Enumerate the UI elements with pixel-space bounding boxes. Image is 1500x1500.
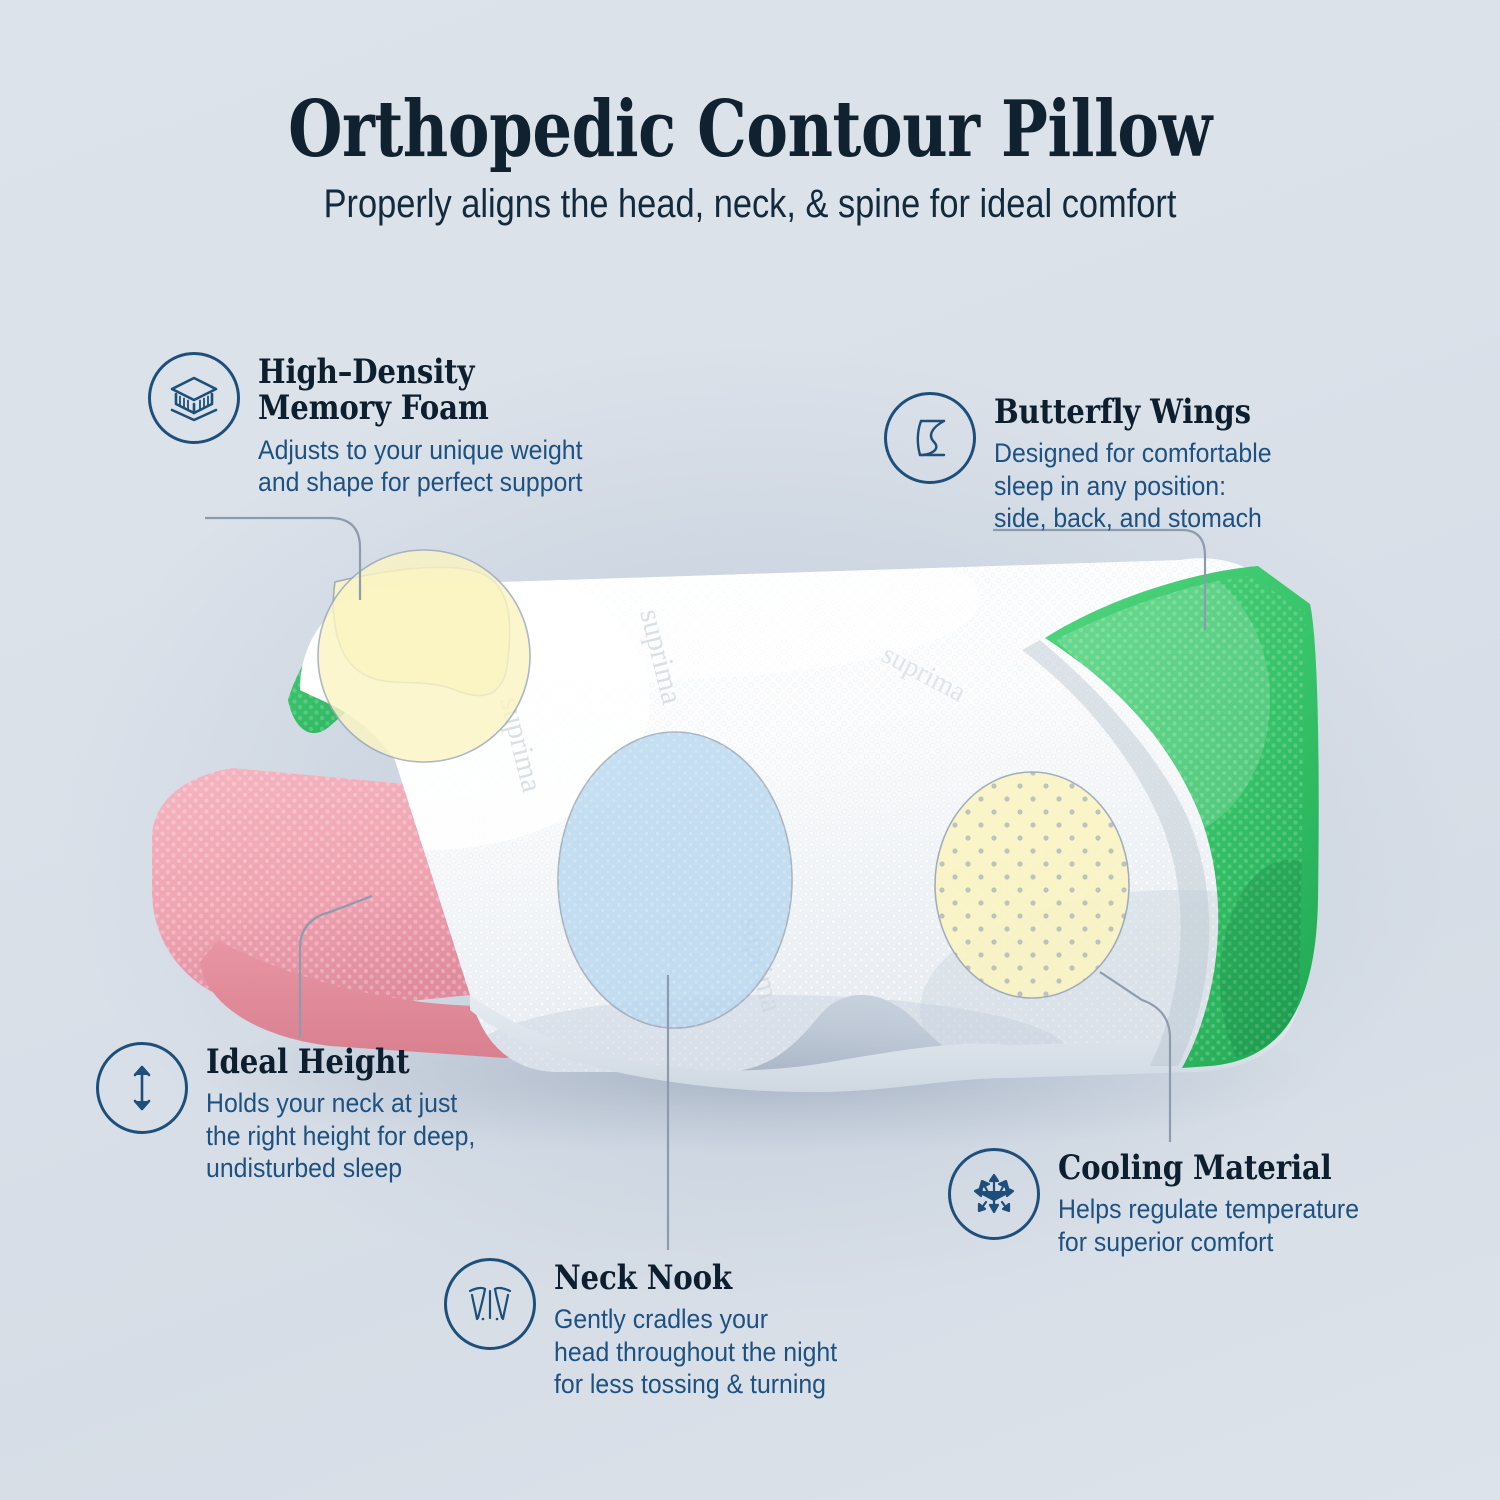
callout-title: High–Density Memory Foam	[258, 354, 561, 427]
callout-ideal-height[interactable]: Ideal Height Holds your neck at just the…	[96, 1042, 499, 1185]
callout-title: Cooling Material	[1058, 1150, 1339, 1186]
callout-body: Designed for comfortable sleep in any po…	[994, 437, 1272, 534]
neck-shoulders-icon	[444, 1258, 536, 1350]
callout-high-density-memory-foam[interactable]: High–Density Memory Foam Adjusts to your…	[148, 352, 611, 499]
callout-body: Holds your neck at just the right height…	[206, 1087, 475, 1184]
callout-cooling-material[interactable]: Cooling Material Helps regulate temperat…	[948, 1148, 1385, 1258]
callout-title: Butterfly Wings	[994, 394, 1253, 430]
callout-title: Ideal Height	[206, 1044, 458, 1080]
foam-layers-icon	[148, 352, 240, 444]
callout-layer: High–Density Memory Foam Adjusts to your…	[0, 0, 1500, 1500]
vertical-double-arrow-icon	[96, 1042, 188, 1134]
callout-neck-nook[interactable]: Neck Nook Gently cradles your head throu…	[444, 1258, 862, 1401]
infographic-canvas: Orthopedic Contour Pillow Properly align…	[0, 0, 1500, 1500]
airflow-burst-icon	[948, 1148, 1040, 1240]
callout-butterfly-wings[interactable]: Butterfly Wings Designed for comfortable…	[884, 392, 1296, 535]
callout-body: Gently cradles your head throughout the …	[554, 1303, 837, 1400]
callout-body: Helps regulate temperature for superior …	[1058, 1193, 1359, 1258]
callout-title: Neck Nook	[554, 1260, 819, 1296]
callout-body: Adjusts to your unique weight and shape …	[258, 434, 583, 499]
pillow-profile-icon	[884, 392, 976, 484]
